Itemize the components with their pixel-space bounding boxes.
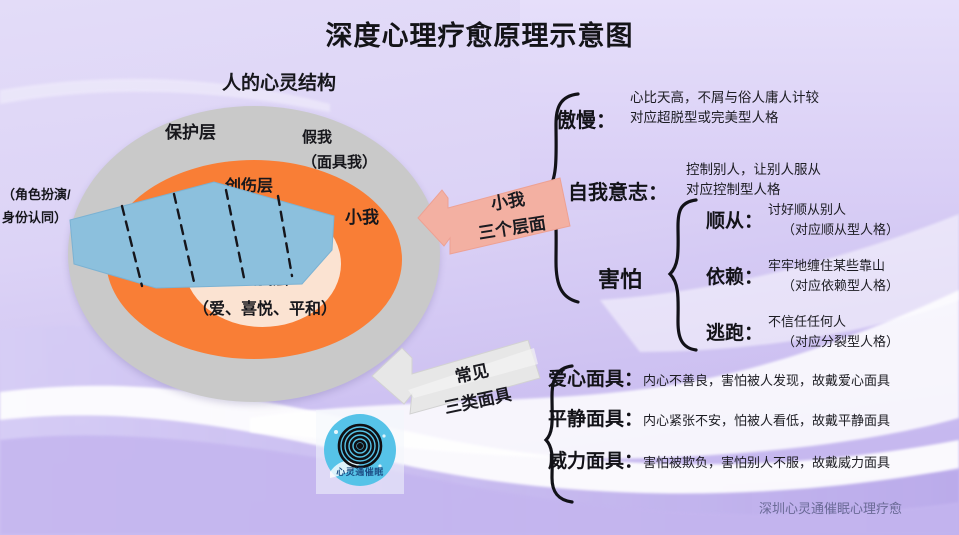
mask-desc-calm: 内心紧张不安，怕被人看低，故戴平静面具 <box>643 413 890 428</box>
ego-desc-selfwill: 控制别人，让别人服从 对应控制型人格 <box>686 160 821 200</box>
ego-term-selfwill: 自我意志： <box>568 176 668 205</box>
fear-desc-compliance-line2: （对应顺从型人格） <box>768 220 899 240</box>
brand-logo-text: 心灵通催眠 <box>316 465 404 478</box>
mask-term-power: 威力面具： <box>548 451 643 472</box>
true-self-line2: （爱、喜悦、平和） <box>170 295 360 325</box>
fear-desc-dependence: 牢牢地缠住某些靠山 （对应依赖型人格） <box>768 256 899 296</box>
false-self-label: 假我 （面具我） <box>302 125 412 175</box>
ego-desc-selfwill-line2: 对应控制型人格 <box>686 180 821 200</box>
fear-main-term: 害怕 <box>598 262 642 294</box>
false-self-label-line2: （面具我） <box>302 150 412 175</box>
ego-desc-arrogance-line1: 心比天高，不屑与俗人庸人计较 <box>630 88 819 108</box>
role-identity-line2: 身份认同） <box>2 206 114 229</box>
ego-desc-arrogance: 心比天高，不屑与俗人庸人计较 对应超脱型或完美型人格 <box>630 88 819 128</box>
mask-term-calm: 平静面具： <box>548 409 643 430</box>
mask-desc-love: 内心不善良，害怕被人发现，故戴爱心面具 <box>643 373 890 388</box>
fear-term-dependence: 依赖： <box>706 262 763 289</box>
brand-logo <box>316 410 404 494</box>
ego-term-arrogance: 傲慢： <box>556 104 616 133</box>
false-self-label-line1: 假我 <box>302 125 412 150</box>
ego-desc-selfwill-line1: 控制别人，让别人服从 <box>686 160 821 180</box>
mask-row-power: 威力面具：害怕被欺负，害怕别人不服，故戴威力面具 <box>548 446 890 473</box>
fear-term-escape: 逃跑： <box>706 318 763 345</box>
footer-credit: 深圳心灵通催眠心理疗愈 <box>759 498 959 517</box>
structure-heading: 人的心灵结构 <box>222 68 336 95</box>
mask-term-love: 爱心面具： <box>548 369 643 390</box>
role-identity-line1: （角色扮演/ <box>2 183 114 206</box>
fear-desc-dependence-line1: 牢牢地缠住某些靠山 <box>768 256 899 276</box>
fear-desc-escape-line2: （对应分裂型人格） <box>768 332 899 352</box>
fear-desc-escape-line1: 不信任任何人 <box>768 312 899 332</box>
mask-row-calm: 平静面具：内心紧张不安，怕被人看低，故戴平静面具 <box>548 404 890 431</box>
fear-desc-escape: 不信任任何人 （对应分裂型人格） <box>768 312 899 352</box>
mask-row-love: 爱心面具：内心不善良，害怕被人发现，故戴爱心面具 <box>548 364 890 391</box>
ego-layer-label: 小我 <box>345 203 379 228</box>
role-identity-label: （角色扮演/ 身份认同） <box>2 183 114 229</box>
fear-desc-compliance: 讨好顺从别人 （对应顺从型人格） <box>768 200 899 240</box>
mask-desc-power: 害怕被欺负，害怕别人不服，故戴威力面具 <box>643 455 890 470</box>
protect-layer-label: 保护层 <box>165 118 216 143</box>
ego-desc-arrogance-line2: 对应超脱型或完美型人格 <box>630 108 819 128</box>
page-title: 深度心理疗愈原理示意图 <box>0 14 959 53</box>
diagram-canvas: 深度心理疗愈原理示意图 人的心灵结构 保护层 假我 （面具我） 创伤层 小我 真… <box>0 0 959 535</box>
fear-desc-dependence-line2: （对应依赖型人格） <box>768 276 899 296</box>
fear-term-compliance: 顺从： <box>706 206 763 233</box>
fear-desc-compliance-line1: 讨好顺从别人 <box>768 200 899 220</box>
